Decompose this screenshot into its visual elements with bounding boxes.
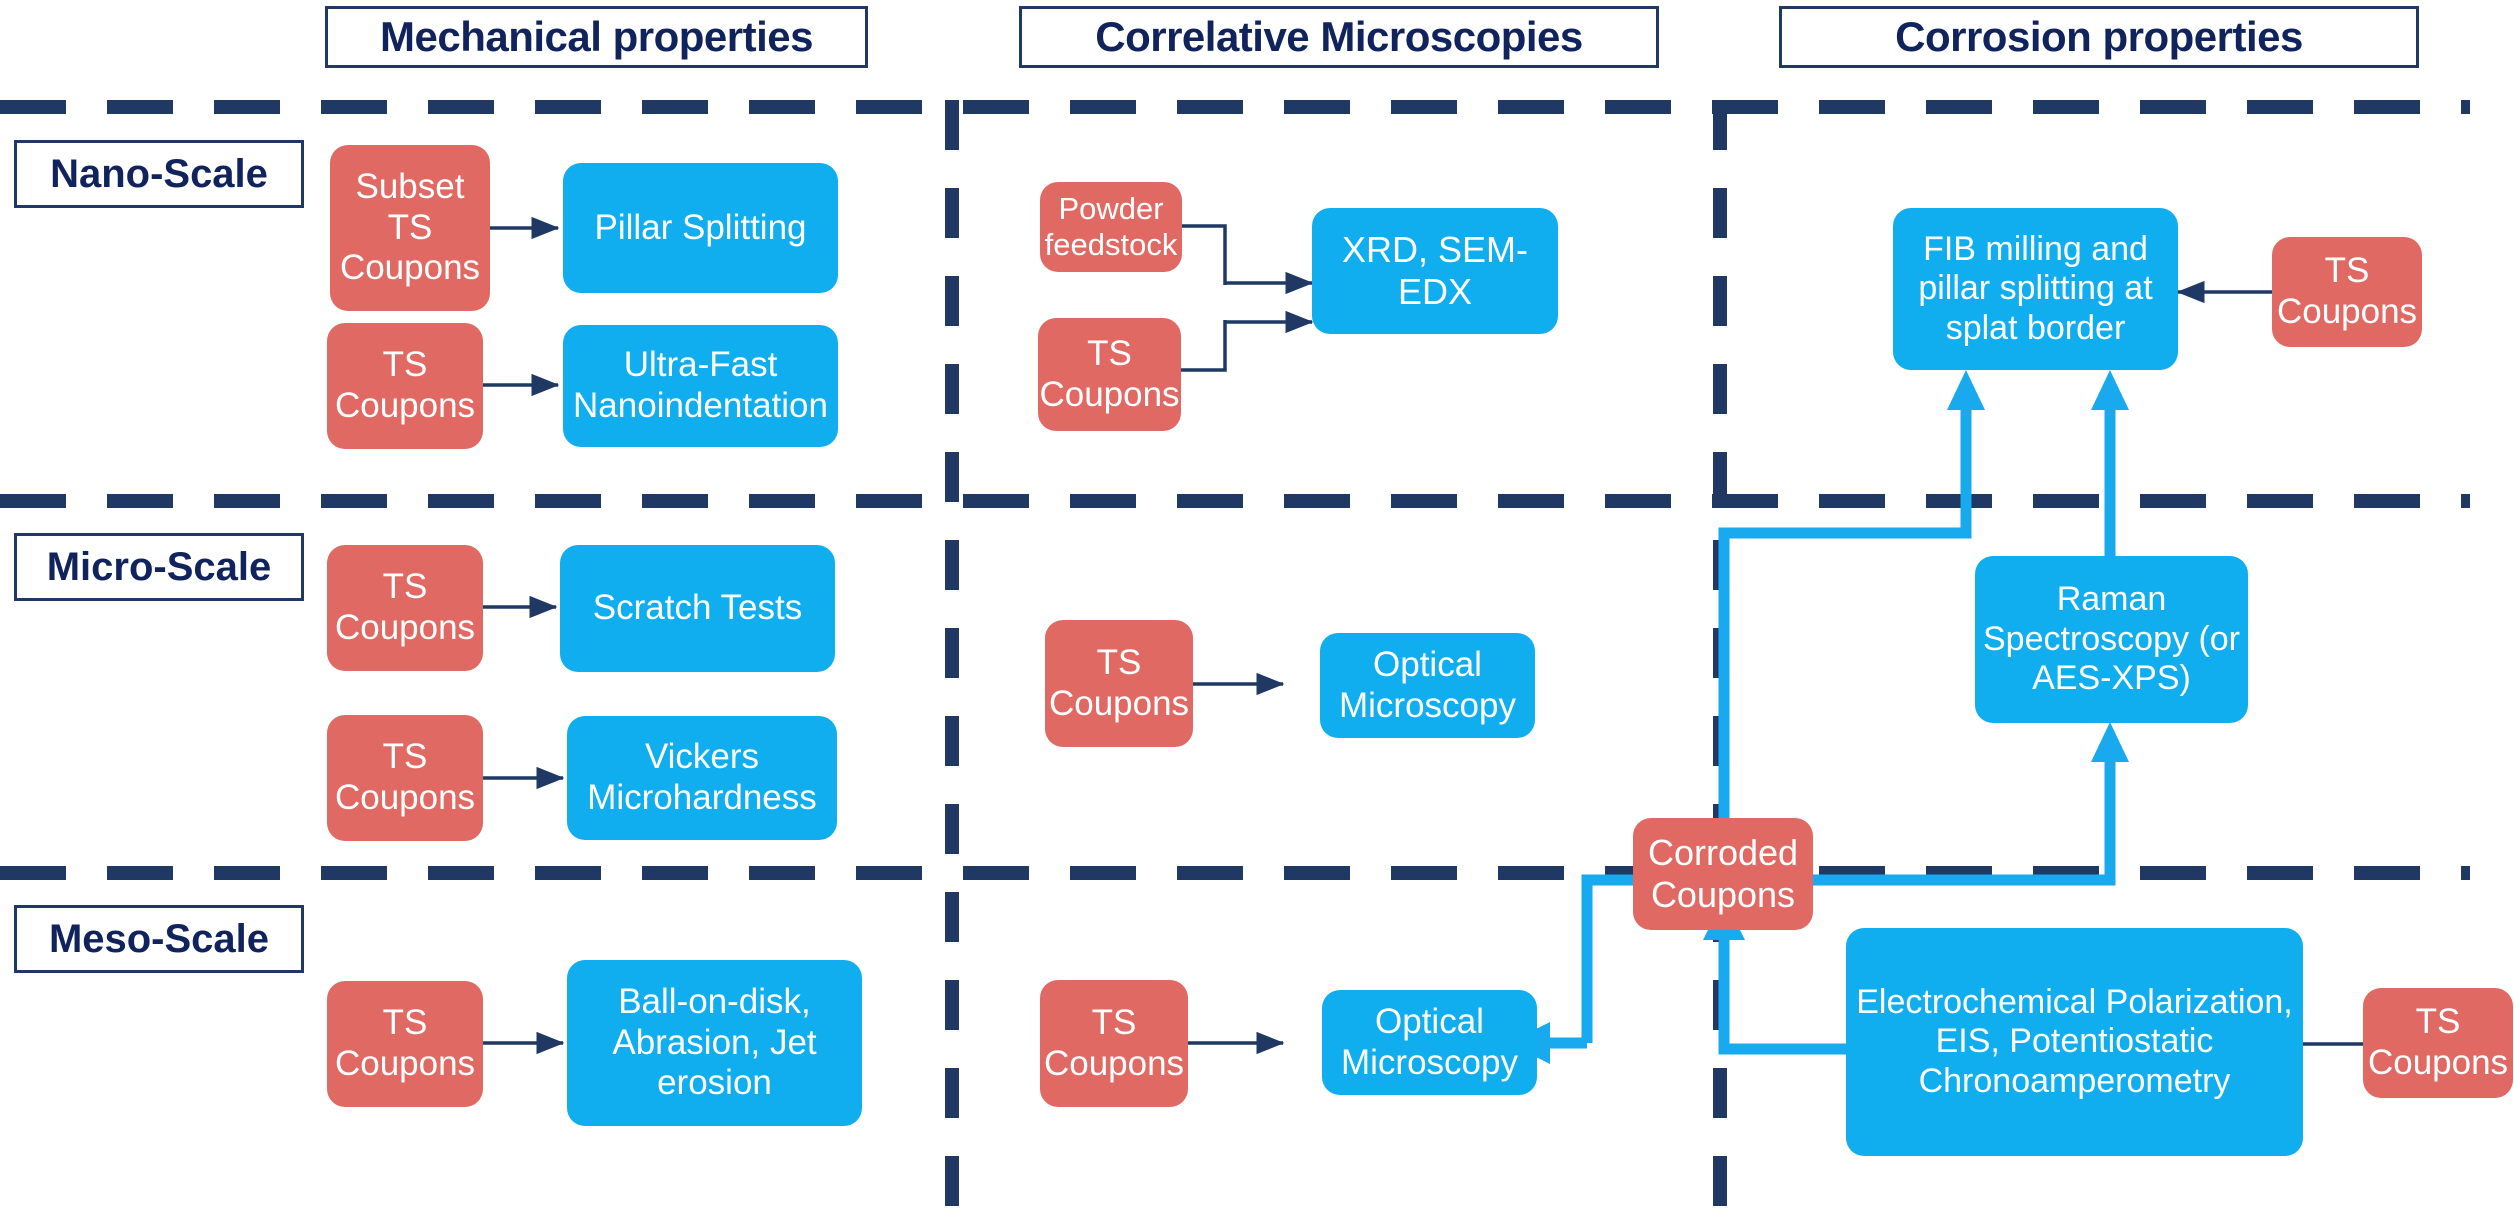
flow-diagram-canvas: Mechanical properties Correlative Micros… bbox=[0, 0, 2514, 1217]
node-ultrafast-nanoindentation[interactable]: Ultra-Fast Nanoindentation bbox=[563, 325, 838, 447]
node-optical-microscopy-micro[interactable]: Optical Microscopy bbox=[1320, 633, 1535, 738]
node-electrochemical-polarization-eis[interactable]: Electrochemical Polarization, EIS, Poten… bbox=[1846, 928, 2303, 1156]
node-ts-coupons-correlative-micro[interactable]: TS Coupons bbox=[1045, 620, 1193, 747]
separator-column-2 bbox=[1713, 100, 1727, 1217]
node-xrd-sem-edx[interactable]: XRD, SEM-EDX bbox=[1312, 208, 1558, 334]
node-ts-coupons-meso-1[interactable]: TS Coupons bbox=[327, 981, 483, 1107]
node-subset-ts-coupons-nano[interactable]: Subset TS Coupons bbox=[330, 145, 490, 311]
node-scratch-tests[interactable]: Scratch Tests bbox=[560, 545, 835, 672]
column-header-correlative-label: Correlative Microscopies bbox=[1095, 13, 1583, 61]
node-ball-on-disk-abrasion-jet-erosion[interactable]: Ball-on-disk, Abrasion, Jet erosion bbox=[567, 960, 862, 1126]
scale-label-nano-text: Nano-Scale bbox=[50, 152, 268, 197]
node-ts-coupons-corrosion-nano[interactable]: TS Coupons bbox=[2272, 237, 2422, 347]
column-header-correlative: Correlative Microscopies bbox=[1019, 6, 1659, 68]
column-header-corrosion-label: Corrosion properties bbox=[1895, 13, 2303, 61]
scale-label-meso-text: Meso-Scale bbox=[49, 917, 269, 962]
scale-label-nano: Nano-Scale bbox=[14, 140, 304, 208]
scale-label-micro-text: Micro-Scale bbox=[47, 545, 272, 590]
node-raman-spectroscopy-aes-xps[interactable]: Raman Spectroscopy (or AES-XPS) bbox=[1975, 556, 2248, 723]
node-ts-coupons-correlative-meso[interactable]: TS Coupons bbox=[1040, 980, 1188, 1107]
node-vickers-microhardness[interactable]: Vickers Microhardness bbox=[567, 716, 837, 840]
node-powder-feedstock[interactable]: Powder feedstock bbox=[1040, 182, 1182, 272]
column-header-mechanical: Mechanical properties bbox=[325, 6, 868, 68]
node-ts-coupons-micro-2[interactable]: TS Coupons bbox=[327, 715, 483, 841]
node-ts-coupons-corrosion-meso[interactable]: TS Coupons bbox=[2363, 988, 2513, 1098]
node-ts-coupons-correlative-nano[interactable]: TS Coupons bbox=[1038, 318, 1181, 431]
column-header-mechanical-label: Mechanical properties bbox=[380, 13, 813, 61]
column-header-corrosion: Corrosion properties bbox=[1779, 6, 2419, 68]
scale-label-micro: Micro-Scale bbox=[14, 533, 304, 601]
node-fib-milling-pillar-splitting[interactable]: FIB milling and pillar splitting at spla… bbox=[1893, 208, 2178, 370]
node-corroded-coupons[interactable]: Corroded Coupons bbox=[1633, 818, 1813, 930]
separator-column-1 bbox=[945, 100, 959, 1217]
separator-row-micro-top bbox=[0, 494, 2470, 508]
node-optical-microscopy-meso[interactable]: Optical Microscopy bbox=[1322, 990, 1537, 1095]
separator-row-meso-top bbox=[0, 866, 2470, 880]
node-ts-coupons-nano-2[interactable]: TS Coupons bbox=[327, 323, 483, 449]
node-ts-coupons-micro-1[interactable]: TS Coupons bbox=[327, 545, 483, 671]
node-pillar-splitting[interactable]: Pillar Splitting bbox=[563, 163, 838, 293]
scale-label-meso: Meso-Scale bbox=[14, 905, 304, 973]
separator-row-nano-top bbox=[0, 100, 2470, 114]
